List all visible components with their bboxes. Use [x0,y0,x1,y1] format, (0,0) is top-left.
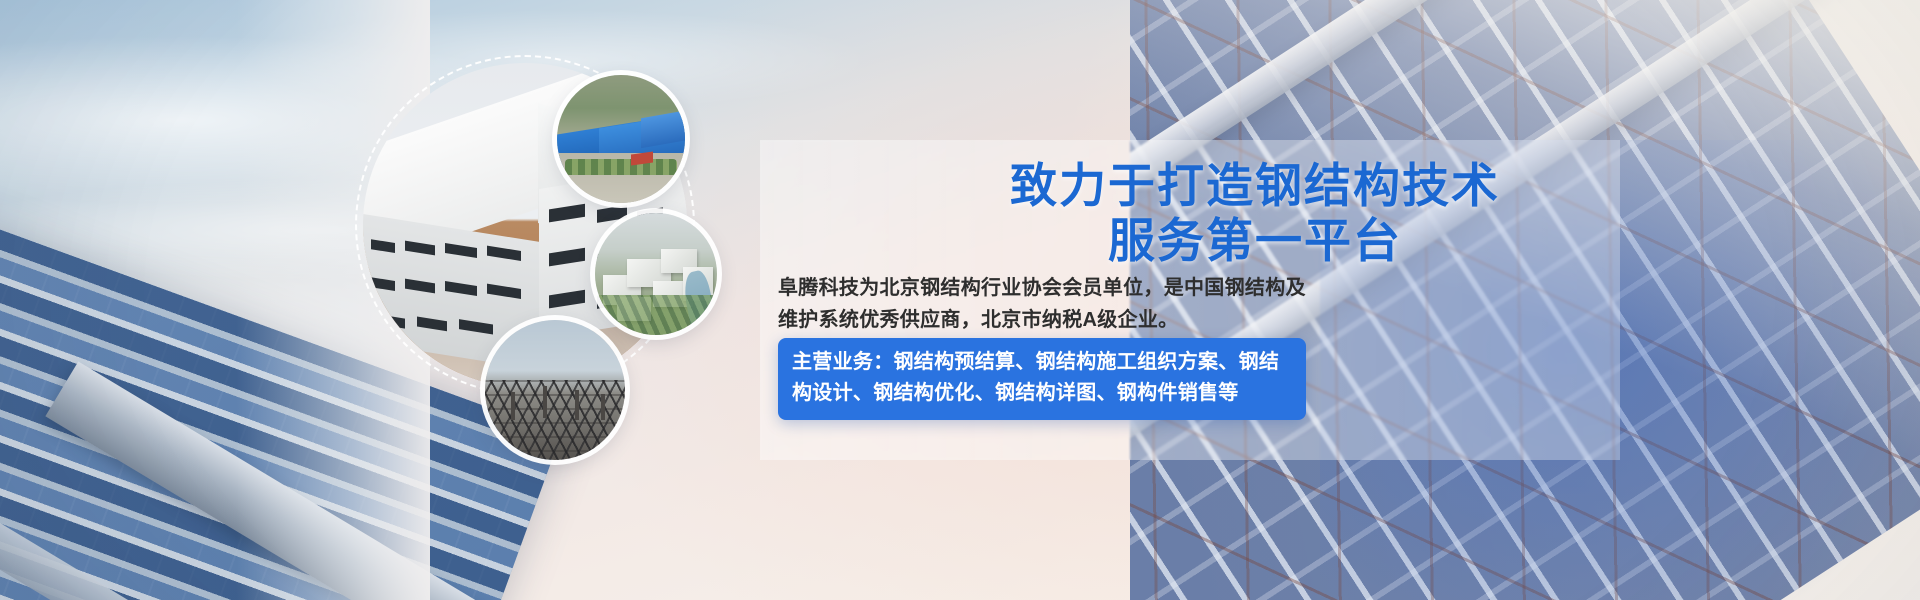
company-description: 阜腾科技为北京钢结构行业协会会员单位，是中国钢结构及维护系统优秀供应商，北京市纳… [778,272,1308,337]
warehouse-window [371,277,395,291]
headline-line-1: 致力于打造钢结构技术 [1010,161,1500,213]
warehouse-window [549,290,585,309]
warehouse-window [549,204,585,223]
warehouse-window [377,314,405,328]
warehouse-window [487,284,521,299]
thumb-photo-office-park-aerial [595,213,717,335]
business-scope-badge: 主营业务：钢结构预结算、钢结构施工组织方案、钢结构设计、钢结构优化、钢结构详图、… [778,338,1306,420]
truss-post [601,394,605,420]
thumb-photo-steel-truss [485,320,625,460]
warehouse-window [445,243,477,258]
steel-truss-frame [485,380,625,460]
thumb-photo-factory-aerial [557,75,685,203]
warehouse-window [445,281,477,296]
truss-post [575,390,579,420]
headline-line-2: 服务第一平台 [1108,216,1402,268]
warehouse-window [371,239,395,253]
warehouse-window [549,248,585,267]
warehouse-window [405,279,435,294]
warehouse-window [487,246,521,261]
hero-banner: 致力于打造钢结构技术 服务第一平台 阜腾科技为北京钢结构行业协会会员单位，是中国… [0,0,1920,600]
truss-post [543,386,547,418]
warehouse-window [417,317,447,332]
factory-landscaping [565,159,677,175]
page-title: 致力于打造钢结构技术 服务第一平台 [975,160,1535,271]
truss-post [511,392,515,420]
warehouse-window [405,241,435,256]
